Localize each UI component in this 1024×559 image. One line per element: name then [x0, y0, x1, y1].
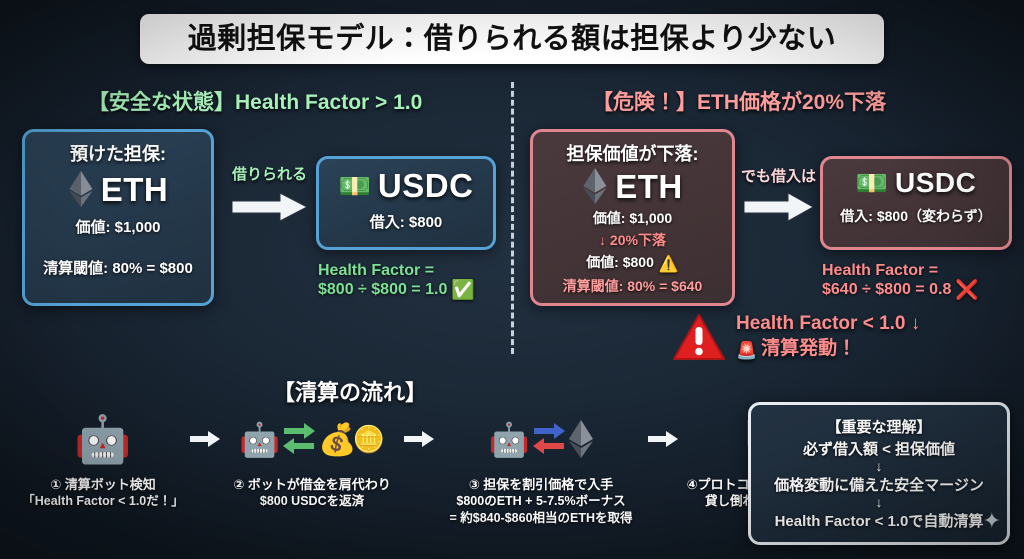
- key-box-title: 【重要な理解】: [826, 416, 931, 437]
- right-arrow-icon: [648, 431, 678, 447]
- flow-section-heading: 【清算の流れ】: [0, 375, 700, 407]
- collateral-new-value-row: 価値: $800⚠️: [533, 252, 732, 273]
- borrow-asset-row-danger: 💵 USDC: [823, 169, 1009, 197]
- right-arrow-icon-danger: [744, 192, 814, 222]
- collateral-card-title-danger: 担保価値が下落:: [533, 140, 732, 166]
- flow-step-3-art: 🤖: [488, 408, 593, 470]
- collateral-card-danger: 担保価値が下落: ETH 価値: $1,000 ↓ 20%下落 価値: $800…: [530, 129, 735, 306]
- flow-step-3-caption: ③ 担保を割引価格で入手 $800のETH + 5-7.5%ボーナス = 約$8…: [449, 476, 632, 527]
- flow-step-1-art: 🤖: [74, 408, 131, 470]
- collateral-card-safe: 預けた担保: ETH 価値: $1,000 清算閾値: 80% = $800: [22, 129, 214, 306]
- panel-divider: [511, 82, 514, 354]
- money-bag-icon: 💰: [318, 424, 357, 455]
- health-factor-calc-safe: $800 ÷ $800 = 1.0: [318, 281, 447, 298]
- flow-step-2-sub1: $800 USDCを返済: [233, 493, 391, 510]
- flow-arrow-3: [646, 408, 680, 470]
- right-arrow-icon-safe: [232, 192, 308, 222]
- flow-step-3-sub2: = 約$840-$860相当のETHを取得: [449, 510, 632, 527]
- rotating-light-icon: 🚨: [736, 341, 757, 360]
- infographic-canvas: 過剰担保モデル：借りられる額は担保より少ない 【安全な状態】Health Fac…: [0, 0, 1024, 559]
- collateral-threshold-line-danger: 清算閾値: 80% = $640: [533, 276, 732, 296]
- flow-step-1-sub1: 「Health Factor < 1.0だ！」: [22, 493, 184, 510]
- collateral-asset-name: ETH: [101, 173, 169, 206]
- robot-icon: 🤖: [74, 416, 131, 462]
- collateral-card-title: 預けた担保:: [25, 140, 211, 166]
- page-title: 過剰担保モデル：借りられる額は担保より少ない: [188, 25, 836, 54]
- borrow-card-danger: 💵 USDC 借入: $800（変わらず）: [820, 156, 1012, 250]
- flow-step-1-title: ① 清算ボット検知: [50, 477, 156, 492]
- collateral-new-value-line: 価値: $800: [586, 254, 654, 270]
- key-box-arrow-2: ↓: [876, 496, 883, 509]
- key-box-line-3: Health Factor < 1.0で自動清算: [775, 510, 984, 531]
- alert-line-1: Health Factor < 1.0 ↓: [736, 312, 920, 337]
- key-box-line-2: 価格変動に備えた安全マージン: [774, 474, 984, 495]
- banknote-icon: 💵: [856, 170, 888, 196]
- collateral-value-line-danger: 価値: $1,000: [533, 208, 732, 228]
- collateral-threshold-line: 清算閾値: 80% = $800: [25, 257, 211, 278]
- collateral-value-line: 価値: $1,000: [25, 216, 211, 237]
- key-box-line-1: 必ず借入額 < 担保価値: [803, 438, 955, 459]
- alert-text-block: Health Factor < 1.0 ↓ 🚨清算発動！: [736, 312, 920, 361]
- key-box-arrow-1: ↓: [876, 460, 883, 473]
- flow-step-3-sub1: $800のETH + 5-7.5%ボーナス: [449, 493, 632, 510]
- check-mark-icon: ✅: [451, 280, 475, 301]
- borrow-asset-row: 💵 USDC: [319, 169, 493, 202]
- swap-arrows-icon: [532, 422, 566, 456]
- liquidation-flow-row: 🤖 ① 清算ボット検知 「Health Factor < 1.0だ！」 🤖 💰: [18, 408, 734, 548]
- health-factor-safe: Health Factor = $800 ÷ $800 = 1.0✅: [318, 262, 475, 300]
- banknote-icon: 💵: [339, 173, 371, 199]
- right-arrow-icon: [404, 431, 434, 447]
- flow-step-1-caption: ① 清算ボット検知 「Health Factor < 1.0だ！」: [22, 476, 184, 510]
- flow-step-1: 🤖 ① 清算ボット検知 「Health Factor < 1.0だ！」: [18, 408, 188, 510]
- borrow-flow-label-danger: でも借入は: [741, 165, 816, 186]
- collateral-drop-line: ↓ 20%下落: [533, 230, 732, 250]
- borrow-amount-line: 借入: $800: [319, 211, 493, 232]
- flow-step-2-art: 🤖 💰 🪙: [239, 408, 385, 470]
- health-factor-label-danger: Health Factor =: [822, 262, 979, 281]
- swap-arrows-icon: [282, 422, 316, 456]
- cross-mark-icon: ❌: [955, 280, 979, 301]
- page-title-banner: 過剰担保モデル：借りられる額は担保より少ない: [140, 14, 884, 64]
- robot-icon: 🤖: [488, 423, 529, 456]
- collateral-asset-name-danger: ETH: [615, 170, 683, 203]
- robot-icon: 🤖: [239, 423, 280, 456]
- flow-step-3: 🤖 ③ 担保を割引価格で入手 $800のETH + 5-7.5%ボーナス = 約…: [436, 408, 646, 527]
- flow-step-3-title: ③ 担保を割引価格で入手: [469, 477, 614, 492]
- flow-arrow-1: [188, 408, 222, 470]
- key-takeaway-box: 【重要な理解】 必ず借入額 < 担保価値 ↓ 価格変動に備えた安全マージン ↓ …: [748, 402, 1010, 545]
- ethereum-icon: [568, 419, 594, 459]
- health-factor-label-safe: Health Factor =: [318, 262, 475, 281]
- flow-arrow-2: [402, 408, 436, 470]
- coin-stack-icon: 🪙: [353, 426, 385, 452]
- collateral-asset-row-danger: ETH: [533, 167, 732, 205]
- borrow-asset-name: USDC: [378, 169, 474, 202]
- flow-step-2-title: ② ボットが借金を肩代わり: [233, 477, 391, 492]
- health-factor-danger: Health Factor = $640 ÷ $800 = 0.8❌: [822, 262, 979, 300]
- health-factor-calc-row-safe: $800 ÷ $800 = 1.0✅: [318, 281, 475, 300]
- ethereum-icon: [68, 170, 94, 208]
- safe-panel-heading: 【安全な状態】Health Factor > 1.0: [88, 86, 422, 116]
- danger-panel-heading: 【危険！】ETH価格が20%下落: [592, 86, 886, 116]
- borrow-asset-name-danger: USDC: [895, 169, 976, 197]
- right-arrow-icon: [190, 431, 220, 447]
- borrow-card-safe: 💵 USDC 借入: $800: [316, 156, 496, 250]
- flow-step-2-caption: ② ボットが借金を肩代わり $800 USDCを返済: [233, 476, 391, 510]
- collateral-asset-row: ETH: [25, 170, 211, 208]
- flow-step-2: 🤖 💰 🪙 ② ボットが借金を肩代わり $800 USDCを返済: [222, 408, 402, 510]
- health-factor-calc-danger: $640 ÷ $800 = 0.8: [822, 281, 951, 298]
- borrow-flow-label-safe: 借りられる: [232, 163, 307, 184]
- ethereum-icon: [582, 167, 608, 205]
- borrow-amount-line-danger: 借入: $800（変わらず）: [823, 206, 1009, 226]
- health-factor-calc-row-danger: $640 ÷ $800 = 0.8❌: [822, 281, 979, 300]
- warning-triangle-icon: ⚠️: [659, 256, 679, 273]
- sparkle-icon: ✦: [983, 510, 1001, 532]
- alert-line-2: 清算発動！: [761, 338, 856, 359]
- alert-line-2-row: 🚨清算発動！: [736, 337, 920, 362]
- alert-triangle-icon: [672, 313, 726, 361]
- liquidation-alert: Health Factor < 1.0 ↓ 🚨清算発動！: [672, 312, 920, 361]
